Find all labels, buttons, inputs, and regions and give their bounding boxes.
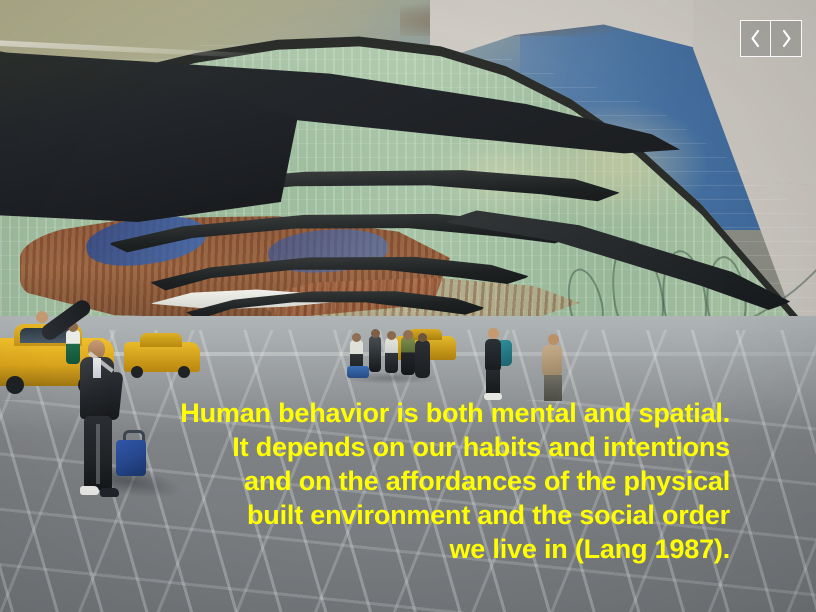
presentation-slide: Human behavior is both mental and spatia… (0, 0, 816, 612)
pedestrian-head (548, 334, 559, 345)
businessman-hand (36, 311, 48, 323)
taxi-roof (140, 333, 182, 347)
pedestrian-head (418, 333, 427, 342)
previous-slide-button[interactable] (740, 20, 771, 57)
pedestrian-head (352, 333, 361, 342)
pedestrian-figure (542, 345, 562, 377)
chevron-right-icon (780, 29, 793, 48)
pedestrian-figure (385, 338, 398, 373)
pedestrian-head (371, 329, 380, 338)
taxi-wheel (178, 366, 190, 378)
luggage-item (347, 366, 369, 378)
blue-briefcase (116, 440, 146, 476)
slide-navigation (740, 20, 802, 57)
businessman-leg-gap (96, 424, 100, 484)
backpacker-head (488, 328, 499, 339)
pedestrian-head (387, 331, 396, 340)
taxi-wheel (6, 376, 24, 394)
taxi-wheel (131, 366, 143, 378)
next-slide-button[interactable] (771, 20, 802, 57)
pedestrian-head (403, 330, 413, 340)
businessman-shoe (80, 486, 99, 495)
businessman-shoe (100, 488, 119, 497)
chevron-left-icon (749, 29, 762, 48)
slide-caption-text: Human behavior is both mental and spatia… (158, 396, 730, 566)
pedestrian-figure (369, 336, 381, 372)
pedestrian-figure (401, 337, 415, 375)
pedestrian-figure (66, 330, 80, 364)
pedestrian-figure (415, 340, 430, 378)
foreground-figure (742, 338, 816, 612)
backpacker-body (485, 339, 501, 372)
